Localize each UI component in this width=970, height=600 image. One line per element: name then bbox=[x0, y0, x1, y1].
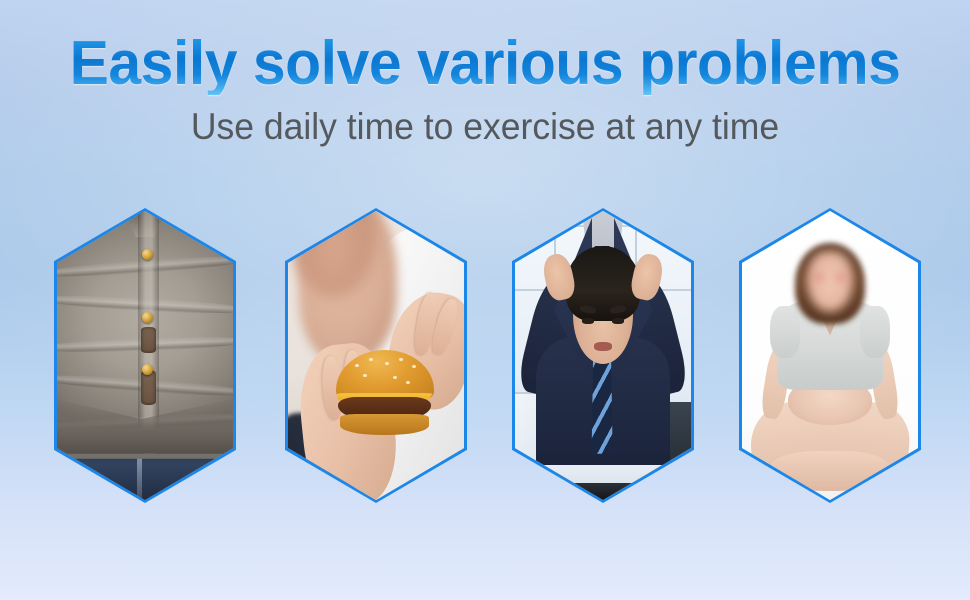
photo-eating-burger bbox=[288, 211, 464, 500]
photo-tight-shirt bbox=[57, 211, 233, 500]
photo-tile-stressed-businessman bbox=[512, 208, 694, 503]
photo-tile-woman-sitting bbox=[739, 208, 921, 503]
hexagon-photo-mask bbox=[515, 211, 691, 500]
page-title: Easily solve various problems bbox=[24, 0, 946, 95]
promo-banner: Easily solve various problems Use daily … bbox=[0, 0, 970, 600]
page-subtitle: Use daily time to exercise at any time bbox=[19, 95, 950, 145]
banner-text-block: Easily solve various problems Use daily … bbox=[0, 0, 970, 145]
hexagon-photo-mask bbox=[57, 211, 233, 500]
hexagon-photo-row bbox=[0, 208, 970, 503]
photo-tile-tight-shirt bbox=[54, 208, 236, 503]
photo-woman-sitting bbox=[742, 211, 918, 500]
photo-stressed-businessman bbox=[515, 211, 691, 500]
hexagon-photo-mask bbox=[742, 211, 918, 500]
photo-tile-eating-burger bbox=[285, 208, 467, 503]
hexagon-photo-mask bbox=[288, 211, 464, 500]
